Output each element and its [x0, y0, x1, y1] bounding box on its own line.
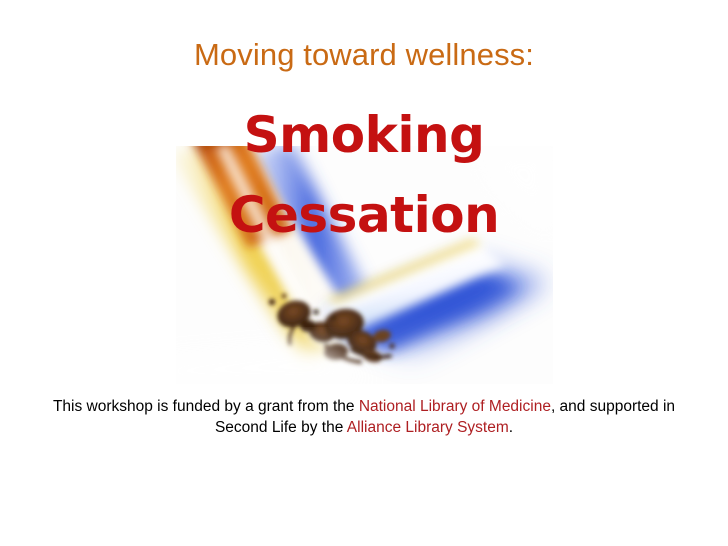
funding-credit: This workshop is funded by a grant from … [36, 396, 692, 438]
broken-cigarette-photo [176, 146, 553, 384]
credit-line1-suffix: , and [551, 398, 585, 415]
link-national-library-of-medicine[interactable]: National Library of Medicine [359, 398, 551, 415]
slide-kicker-title: Moving toward wellness: [0, 36, 728, 74]
cigarette-illustration [176, 146, 553, 384]
credit-line1-prefix: This workshop is funded by a grant from … [53, 398, 359, 415]
link-alliance-library-system[interactable]: Alliance Library System [347, 419, 509, 436]
credit-line2-suffix: . [509, 419, 513, 436]
photo-artwork [176, 146, 553, 384]
presentation-slide: Moving toward wellness: Smoking Cessatio… [0, 0, 728, 546]
